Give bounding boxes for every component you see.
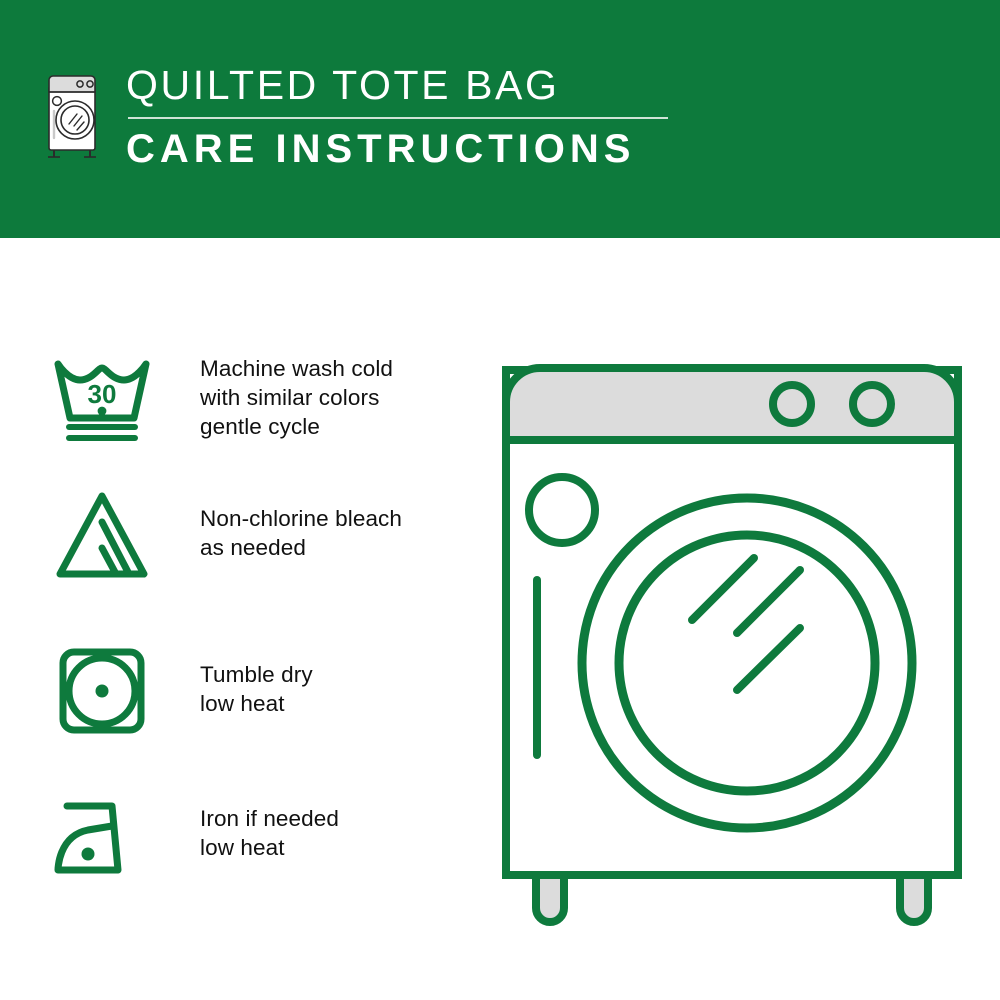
care-instruction-text: Iron if needed low heat xyxy=(200,804,339,862)
care-instruction-text: Tumble dry low heat xyxy=(200,660,313,718)
washing-machine-illustration xyxy=(492,330,972,930)
tumble-dry-low-heat-symbol xyxy=(50,642,154,742)
list-item: 30 Machine wash cold with similar colors… xyxy=(50,346,393,446)
title-divider xyxy=(128,117,668,119)
iron-low-heat-symbol xyxy=(50,790,154,890)
list-item: Tumble dry low heat xyxy=(50,642,313,742)
page-subtitle: CARE INSTRUCTIONS xyxy=(126,126,668,172)
washing-machine-icon xyxy=(44,68,106,160)
list-item: Non-chlorine bleach as needed xyxy=(50,486,402,586)
care-instruction-text: Non-chlorine bleach as needed xyxy=(200,504,402,562)
header-banner: QUILTED TOTE BAG CARE INSTRUCTIONS xyxy=(0,0,1000,238)
list-item: Iron if needed low heat xyxy=(50,790,339,890)
header-content: QUILTED TOTE BAG CARE INSTRUCTIONS xyxy=(44,62,668,172)
leg-right xyxy=(900,875,928,922)
page-title: QUILTED TOTE BAG xyxy=(126,62,668,108)
wash-temperature-value: 30 xyxy=(88,379,117,409)
leg-left xyxy=(536,875,564,922)
title-block: QUILTED TOTE BAG CARE INSTRUCTIONS xyxy=(126,62,668,172)
care-instruction-text: Machine wash cold with similar colors ge… xyxy=(200,354,393,441)
care-instructions-poster: QUILTED TOTE BAG CARE INSTRUCTIONS 30 xyxy=(0,0,1000,1000)
non-chlorine-bleach-symbol xyxy=(50,486,154,586)
care-instructions-list: 30 Machine wash cold with similar colors… xyxy=(0,238,470,1000)
machine-body xyxy=(506,370,958,875)
machine-wash-30-gentle-symbol: 30 xyxy=(50,346,154,446)
